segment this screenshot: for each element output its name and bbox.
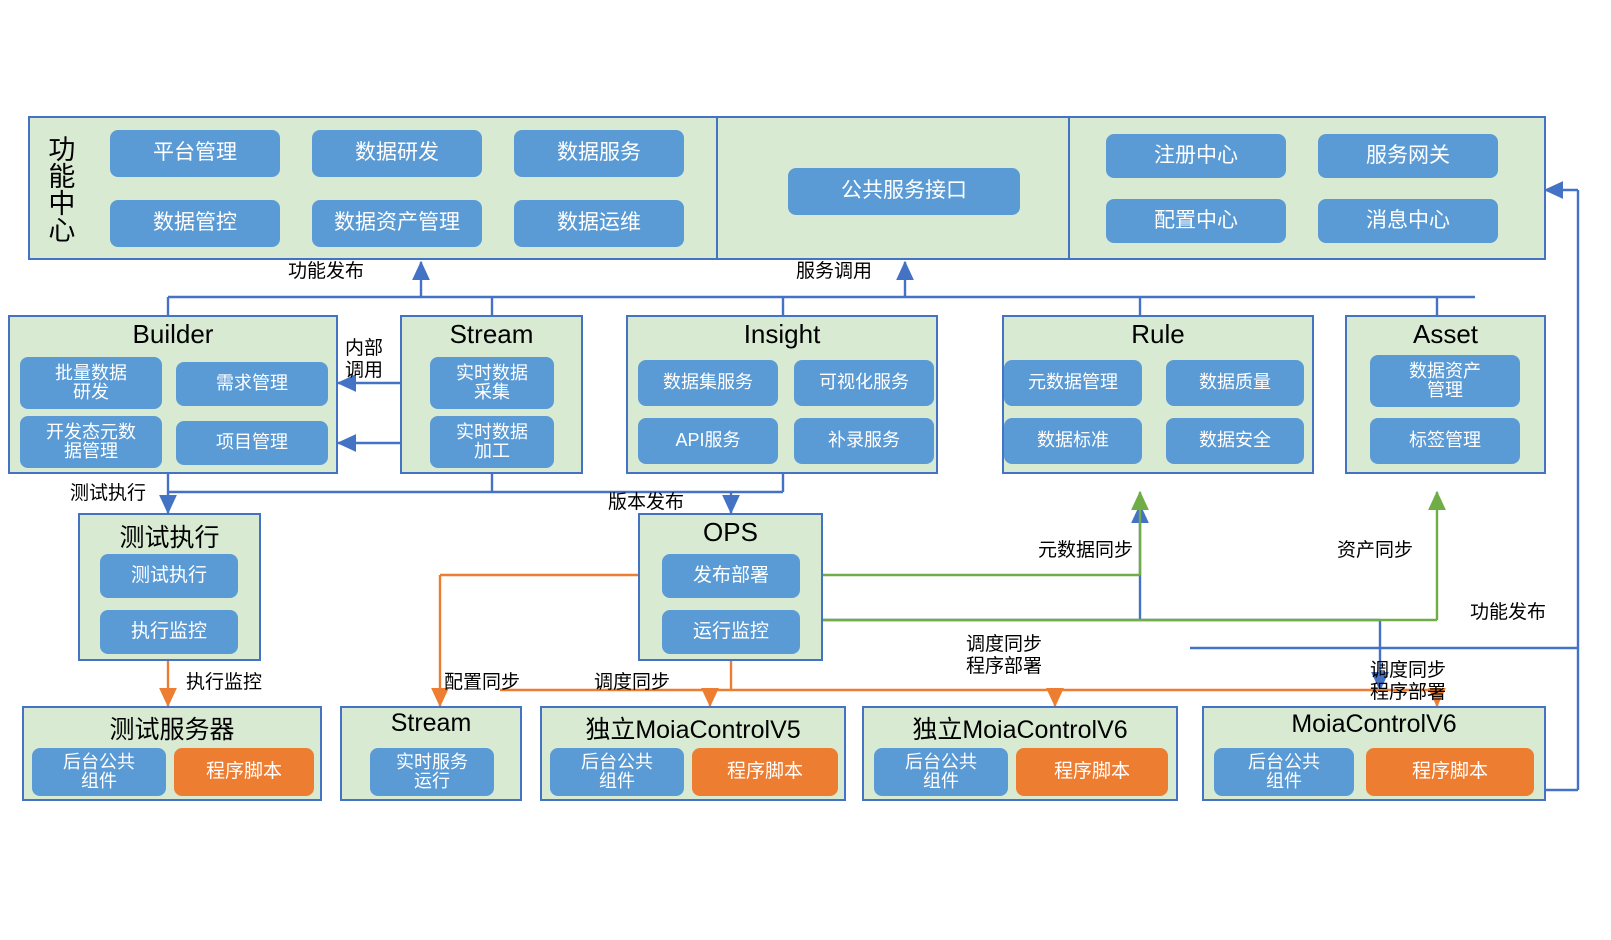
chip-data-governance[interactable]: 数据管控	[110, 200, 280, 247]
server-title-moiacontrolv6-standalone: 独立MoiaControlV6	[862, 710, 1178, 746]
chip-realtime-data-processing[interactable]: 实时数据 加工	[430, 416, 554, 468]
chip-data-standard[interactable]: 数据标准	[1004, 418, 1142, 464]
chip-platform-management[interactable]: 平台管理	[110, 130, 280, 177]
chip-realtime-service-running[interactable]: 实时服务 运行	[370, 748, 494, 796]
edge-label-metadata-sync: 元数据同步	[1038, 540, 1133, 562]
server-title-moiacontrolv5: 独立MoiaControlV5	[540, 710, 846, 746]
chip-supplement-service[interactable]: 补录服务	[794, 418, 934, 464]
chip-dataset-service[interactable]: 数据集服务	[638, 360, 778, 406]
module-title-insight: Insight	[626, 319, 938, 350]
server-title-stream: Stream	[340, 709, 522, 738]
edge-label-asset-sync: 资产同步	[1337, 540, 1413, 562]
edge-label-test-execution: 测试执行	[70, 483, 146, 505]
module-title-ops: OPS	[638, 517, 823, 548]
module-title-test-execution: 测试执行	[78, 518, 261, 554]
edge-label-version-publish: 版本发布	[608, 492, 684, 514]
chip-service-gateway[interactable]: 服务网关	[1318, 134, 1498, 178]
edge-label-function-publish-top: 功能发布	[288, 261, 364, 283]
chip-backend-common-component-2[interactable]: 后台公共 组件	[550, 748, 684, 796]
server-title-moiacontrolv6: MoiaControlV6	[1202, 710, 1546, 739]
chip-data-quality[interactable]: 数据质量	[1166, 360, 1304, 406]
edge-label-function-publish-right: 功能发布	[1470, 602, 1546, 624]
module-title-asset: Asset	[1345, 319, 1546, 350]
chip-program-script-4[interactable]: 程序脚本	[1366, 748, 1534, 796]
chip-program-script-2[interactable]: 程序脚本	[692, 748, 838, 796]
chip-backend-common-component-3[interactable]: 后台公共 组件	[874, 748, 1008, 796]
edge-label-service-call: 服务调用	[796, 261, 872, 283]
chip-batch-data-development[interactable]: 批量数据 研发	[20, 357, 162, 409]
function-center-side-label: 功能中心	[36, 124, 82, 254]
chip-dev-metadata-management[interactable]: 开发态元数 据管理	[20, 416, 162, 468]
chip-requirement-management[interactable]: 需求管理	[176, 362, 328, 406]
function-center-divider-1	[716, 118, 718, 258]
chip-runtime-monitoring[interactable]: 运行监控	[662, 610, 800, 654]
chip-public-service-interface[interactable]: 公共服务接口	[788, 168, 1020, 215]
module-title-builder: Builder	[8, 319, 338, 350]
module-title-rule: Rule	[1002, 319, 1314, 350]
chip-project-management[interactable]: 项目管理	[176, 421, 328, 465]
chip-data-development[interactable]: 数据研发	[312, 130, 482, 177]
chip-program-script-3[interactable]: 程序脚本	[1016, 748, 1168, 796]
chip-program-script-1[interactable]: 程序脚本	[174, 748, 314, 796]
server-title-test-server: 测试服务器	[22, 710, 322, 746]
chip-execution-monitoring[interactable]: 执行监控	[100, 610, 238, 654]
architecture-diagram: 功能中心 平台管理 数据研发 数据服务 数据管控 数据资产管理 数据运维 公共服…	[0, 0, 1611, 940]
chip-release-deployment[interactable]: 发布部署	[662, 554, 800, 598]
chip-api-service[interactable]: API服务	[638, 418, 778, 464]
chip-data-asset-management[interactable]: 数据资产管理	[312, 200, 482, 247]
chip-backend-common-component-4[interactable]: 后台公共 组件	[1214, 748, 1354, 796]
chip-realtime-data-collection[interactable]: 实时数据 采集	[430, 357, 554, 409]
chip-visualization-service[interactable]: 可视化服务	[794, 360, 934, 406]
chip-test-execution[interactable]: 测试执行	[100, 554, 238, 598]
edge-label-config-sync: 配置同步	[444, 672, 520, 694]
chip-data-service[interactable]: 数据服务	[514, 130, 684, 177]
chip-backend-common-component-1[interactable]: 后台公共 组件	[32, 748, 166, 796]
chip-registry-center[interactable]: 注册中心	[1106, 134, 1286, 178]
chip-message-center[interactable]: 消息中心	[1318, 199, 1498, 243]
chip-config-center[interactable]: 配置中心	[1106, 199, 1286, 243]
chip-data-operations[interactable]: 数据运维	[514, 200, 684, 247]
function-center-divider-2	[1068, 118, 1070, 258]
chip-metadata-management[interactable]: 元数据管理	[1004, 360, 1142, 406]
edge-label-schedule-deploy-right: 调度同步 程序部署	[1370, 660, 1446, 704]
chip-data-asset-mgmt-asset[interactable]: 数据资产 管理	[1370, 355, 1520, 407]
module-title-stream: Stream	[400, 319, 583, 350]
edge-label-internal-call: 内部 调用	[345, 338, 383, 382]
edge-label-schedule-deploy-mid: 调度同步 程序部署	[966, 634, 1042, 678]
edge-label-execution-monitor: 执行监控	[186, 672, 262, 694]
chip-tag-management[interactable]: 标签管理	[1370, 418, 1520, 464]
edge-label-schedule-sync: 调度同步	[594, 672, 670, 694]
chip-data-security[interactable]: 数据安全	[1166, 418, 1304, 464]
